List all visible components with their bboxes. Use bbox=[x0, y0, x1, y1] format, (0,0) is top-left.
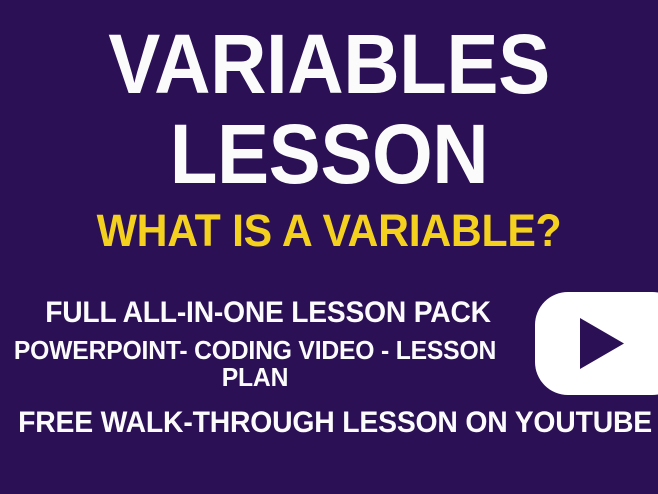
youtube-play-icon bbox=[535, 292, 658, 395]
lesson-contents-label: POWERPOINT- CODING VIDEO - LESSON PLAN bbox=[13, 337, 498, 391]
page-title-line-1: VARIABLES bbox=[23, 22, 635, 106]
poster-canvas: VARIABLES LESSON WHAT IS A VARIABLE? FUL… bbox=[0, 0, 658, 494]
lesson-pack-label: FULL ALL-IN-ONE LESSON PACK bbox=[16, 297, 520, 328]
page-title-line-2: LESSON bbox=[23, 112, 635, 196]
subtitle-question: WHAT IS A VARIABLE? bbox=[16, 208, 641, 253]
youtube-promo-label: FREE WALK-THROUGH LESSON ON YOUTUBE bbox=[18, 407, 640, 438]
